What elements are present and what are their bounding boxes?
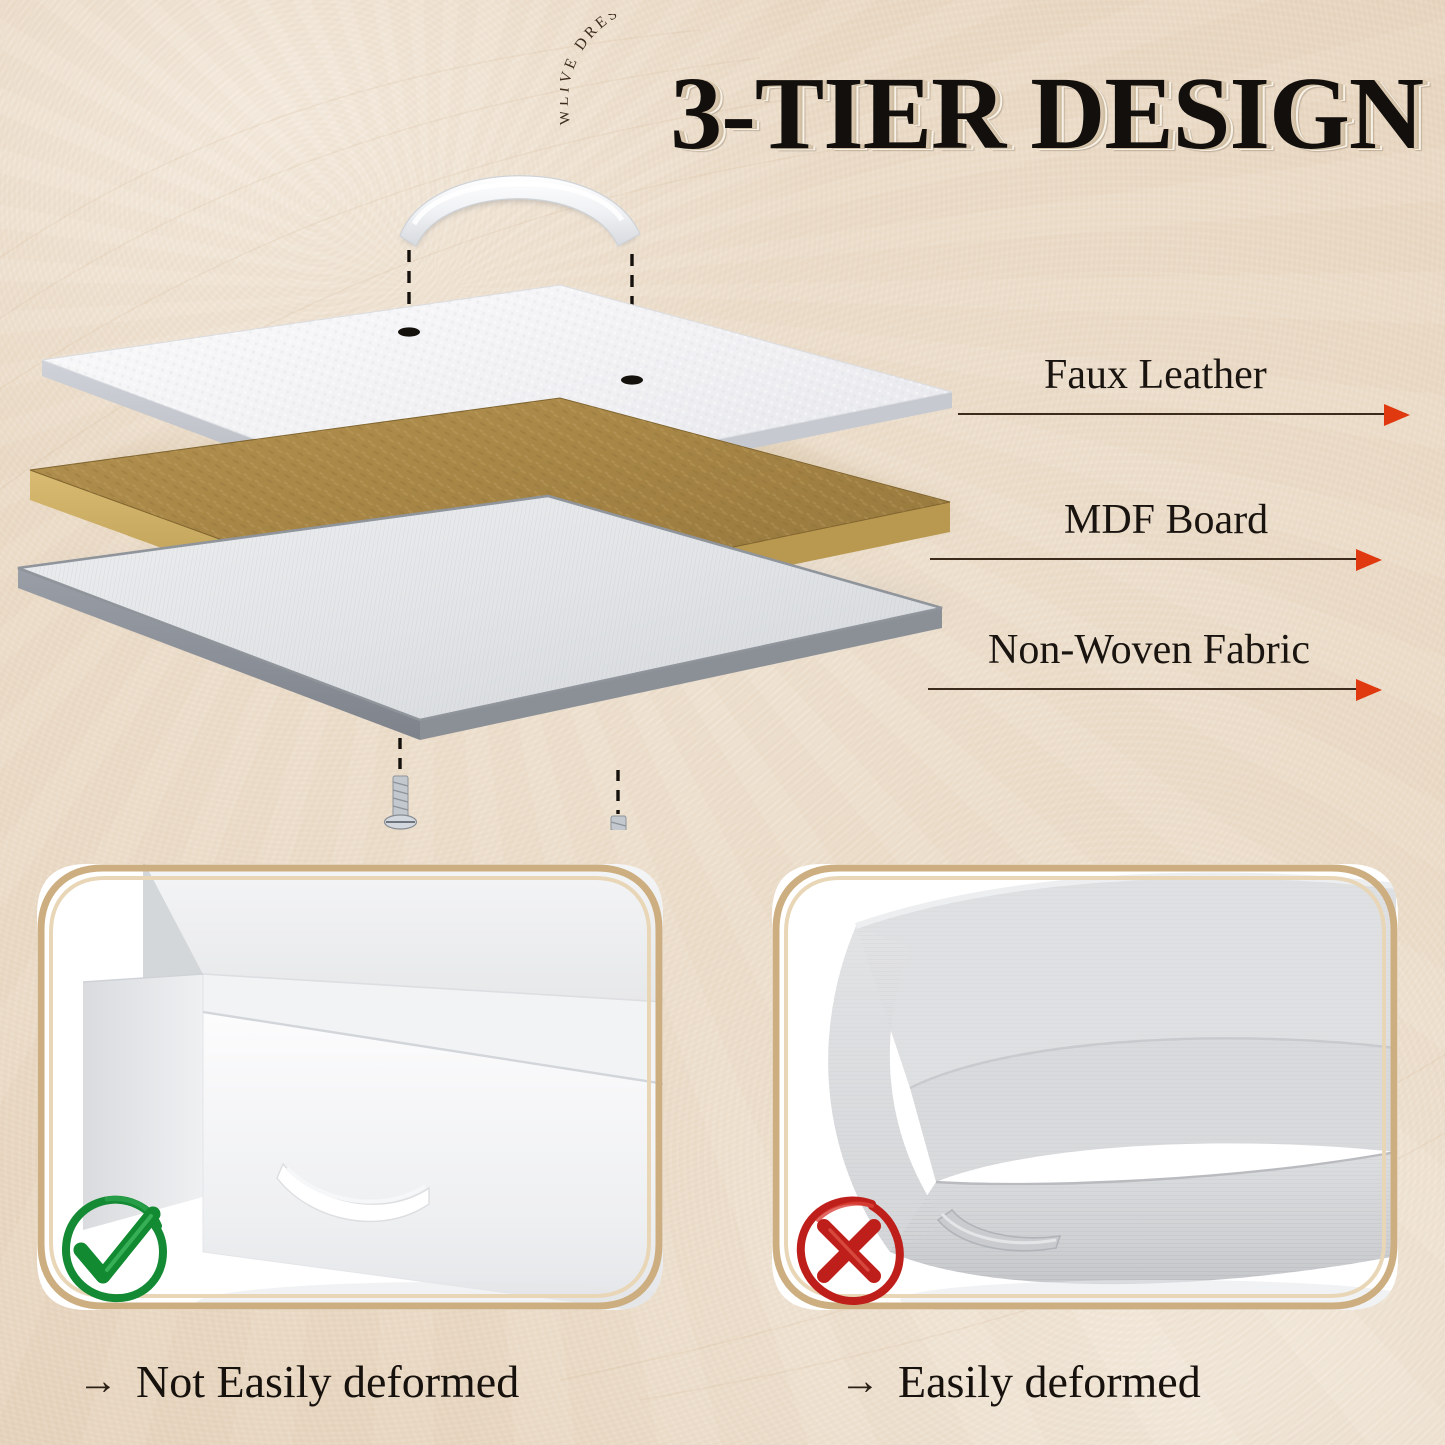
callout-line bbox=[928, 688, 1378, 690]
callout-arrow-icon bbox=[1356, 549, 1382, 571]
callout-faux-leather: Faux Leather bbox=[958, 325, 1428, 415]
screw-hole-right bbox=[621, 375, 643, 384]
cross-mark-icon bbox=[788, 1192, 908, 1312]
handle-arc bbox=[400, 176, 640, 246]
callout-label-mdf-board: MDF Board bbox=[1064, 496, 1268, 544]
screw-left bbox=[385, 776, 417, 829]
caption-label-bad: Easily deformed bbox=[898, 1355, 1201, 1408]
caption-arrow-icon-right: → bbox=[840, 1361, 880, 1401]
callout-arrow-icon bbox=[1356, 679, 1382, 701]
check-mark-icon bbox=[55, 1192, 175, 1312]
caption-label-good: Not Easily deformed bbox=[136, 1355, 519, 1408]
callout-label-faux-leather: Faux Leather bbox=[1044, 351, 1267, 399]
callout-label-non-woven-fabric: Non-Woven Fabric bbox=[988, 626, 1310, 674]
callout-mdf-board: MDF Board bbox=[958, 470, 1428, 560]
callout-arrow-icon bbox=[1384, 404, 1410, 426]
callout-line bbox=[930, 558, 1378, 560]
caption-bad: → Easily deformed bbox=[840, 1345, 1201, 1417]
screw-hole-left bbox=[398, 327, 420, 336]
callout-non-woven-fabric: Non-Woven Fabric bbox=[958, 600, 1428, 690]
screw-right bbox=[603, 816, 635, 830]
exploded-layer-diagram bbox=[0, 150, 1000, 830]
brand-arc-label: WLIVE DRESSER bbox=[560, 14, 659, 126]
callout-line bbox=[958, 413, 1406, 415]
caption-good: → Not Easily deformed bbox=[78, 1345, 519, 1417]
svg-text:WLIVE DRESSER: WLIVE DRESSER bbox=[560, 14, 659, 126]
caption-arrow-icon-left: → bbox=[78, 1361, 118, 1401]
